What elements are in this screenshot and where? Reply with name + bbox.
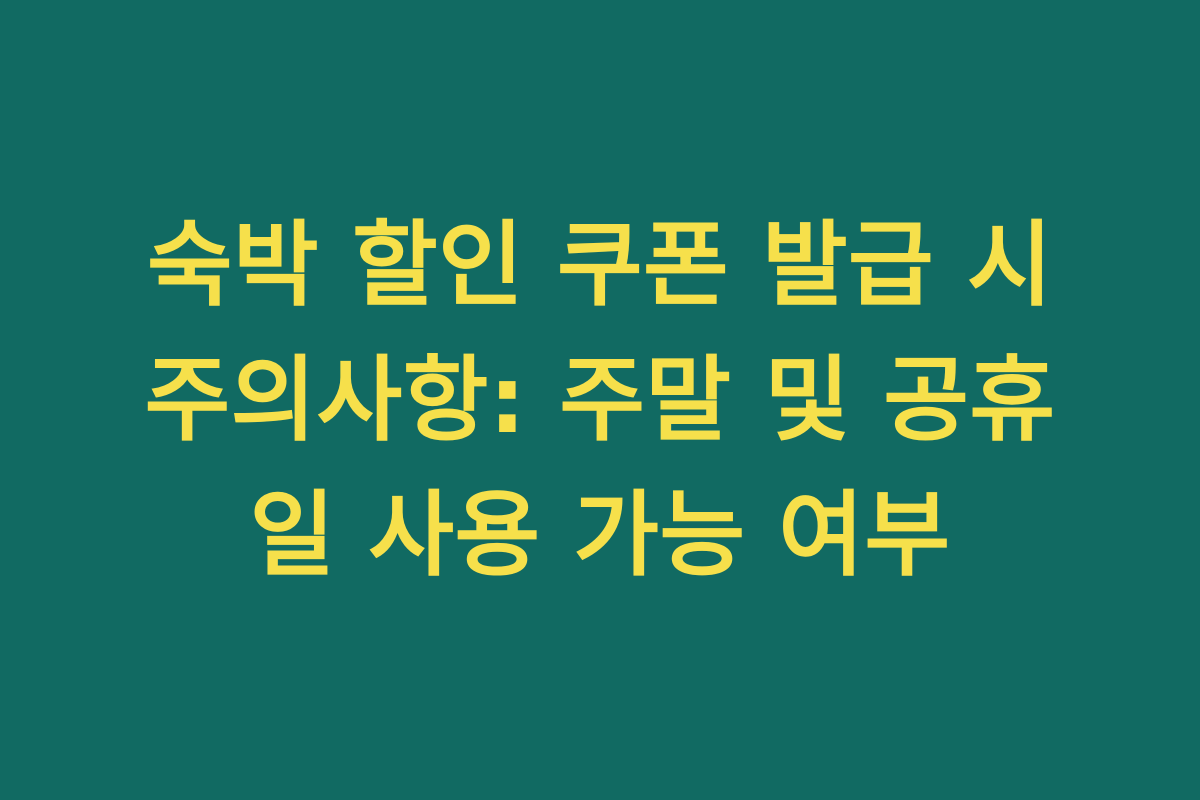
banner-card: 숙박 할인 쿠폰 발급 시 주의사항: 주말 및 공휴 일 사용 가능 여부 xyxy=(0,0,1200,800)
headline-line-1: 숙박 할인 쿠폰 발급 시 xyxy=(95,198,1105,333)
headline-line-2: 주의사항: 주말 및 공휴 xyxy=(95,333,1105,468)
page-title: 숙박 할인 쿠폰 발급 시 주의사항: 주말 및 공휴 일 사용 가능 여부 xyxy=(95,198,1105,603)
headline-line-3: 일 사용 가능 여부 xyxy=(95,468,1105,603)
